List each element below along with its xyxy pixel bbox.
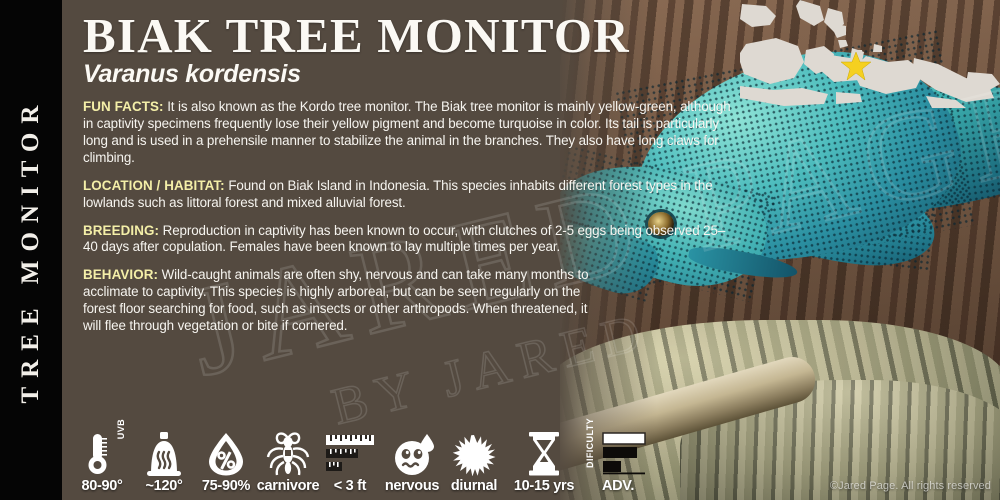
care-item-temperature: UVB 80-90°: [71, 418, 133, 500]
info-sections: FUN FACTS: It is also known as the Kordo…: [83, 99, 738, 335]
care-label-humidity: 75-90%: [202, 478, 250, 494]
section-heading: LOCATION / HABITAT:: [83, 178, 225, 193]
difficulty-bars-icon: [589, 432, 647, 476]
page-title: BIAK TREE MONITOR: [83, 12, 1000, 59]
care-label-activity: diurnal: [451, 478, 497, 494]
nervous-face-icon: [389, 432, 435, 476]
section-behavior: BEHAVIOR: Wild-caught animals are often …: [83, 267, 603, 335]
care-item-activity: diurnal: [443, 418, 505, 500]
difficulty-badge: DIFICULTY: [585, 418, 595, 468]
ruler-size-icon: [324, 432, 376, 476]
uvb-badge: UVB: [116, 419, 126, 439]
heat-lamp-icon: [141, 432, 187, 476]
care-label-temperature: 80-90°: [81, 478, 122, 494]
species-care-label: JARED PAGE BY JARED TREE MONITOR BIAK TR…: [0, 0, 1000, 500]
section-heading: FUN FACTS:: [83, 99, 164, 114]
care-label-temperament: nervous: [385, 478, 439, 494]
section-heading: BREEDING:: [83, 223, 159, 238]
care-item-basking: ~120°: [133, 418, 195, 500]
spine-title: TREE MONITOR: [17, 97, 45, 404]
care-label-lifespan: 10-15 yrs: [514, 478, 574, 494]
section-body: It is also known as the Kordo tree monit…: [83, 99, 731, 165]
care-item-humidity: 75-90%: [195, 418, 257, 500]
section-fun-facts: FUN FACTS: It is also known as the Kordo…: [83, 99, 738, 167]
care-label-difficulty: ADV.: [602, 478, 634, 494]
care-item-diet: carnivore: [257, 418, 319, 500]
sun-icon: [451, 432, 497, 476]
humidity-drop-icon: [206, 432, 246, 476]
care-item-lifespan: 10-15 yrs: [505, 418, 583, 500]
section-body: Reproduction in captivity has been known…: [83, 223, 725, 255]
section-body: Wild-caught animals are often shy, nervo…: [83, 267, 588, 333]
care-label-diet: carnivore: [257, 478, 320, 494]
care-item-difficulty: DIFICULTY ADV.: [583, 418, 653, 500]
section-heading: BEHAVIOR:: [83, 267, 158, 282]
care-item-temperament: nervous: [381, 418, 443, 500]
care-label-size: < 3 ft: [334, 478, 366, 494]
copyright-notice: ©Jared Page. All rights reserved: [830, 480, 991, 492]
care-item-size: < 3 ft: [319, 418, 381, 500]
hourglass-icon: [524, 432, 564, 476]
cricket-icon: [265, 432, 311, 476]
section-location-habitat: LOCATION / HABITAT: Found on Biak Island…: [83, 178, 738, 212]
care-label-basking: ~120°: [146, 478, 183, 494]
scientific-name: Varanus kordensis: [83, 60, 1000, 89]
section-breeding: BREEDING: Reproduction in captivity has …: [83, 223, 738, 257]
label-spine: TREE MONITOR: [0, 0, 62, 500]
